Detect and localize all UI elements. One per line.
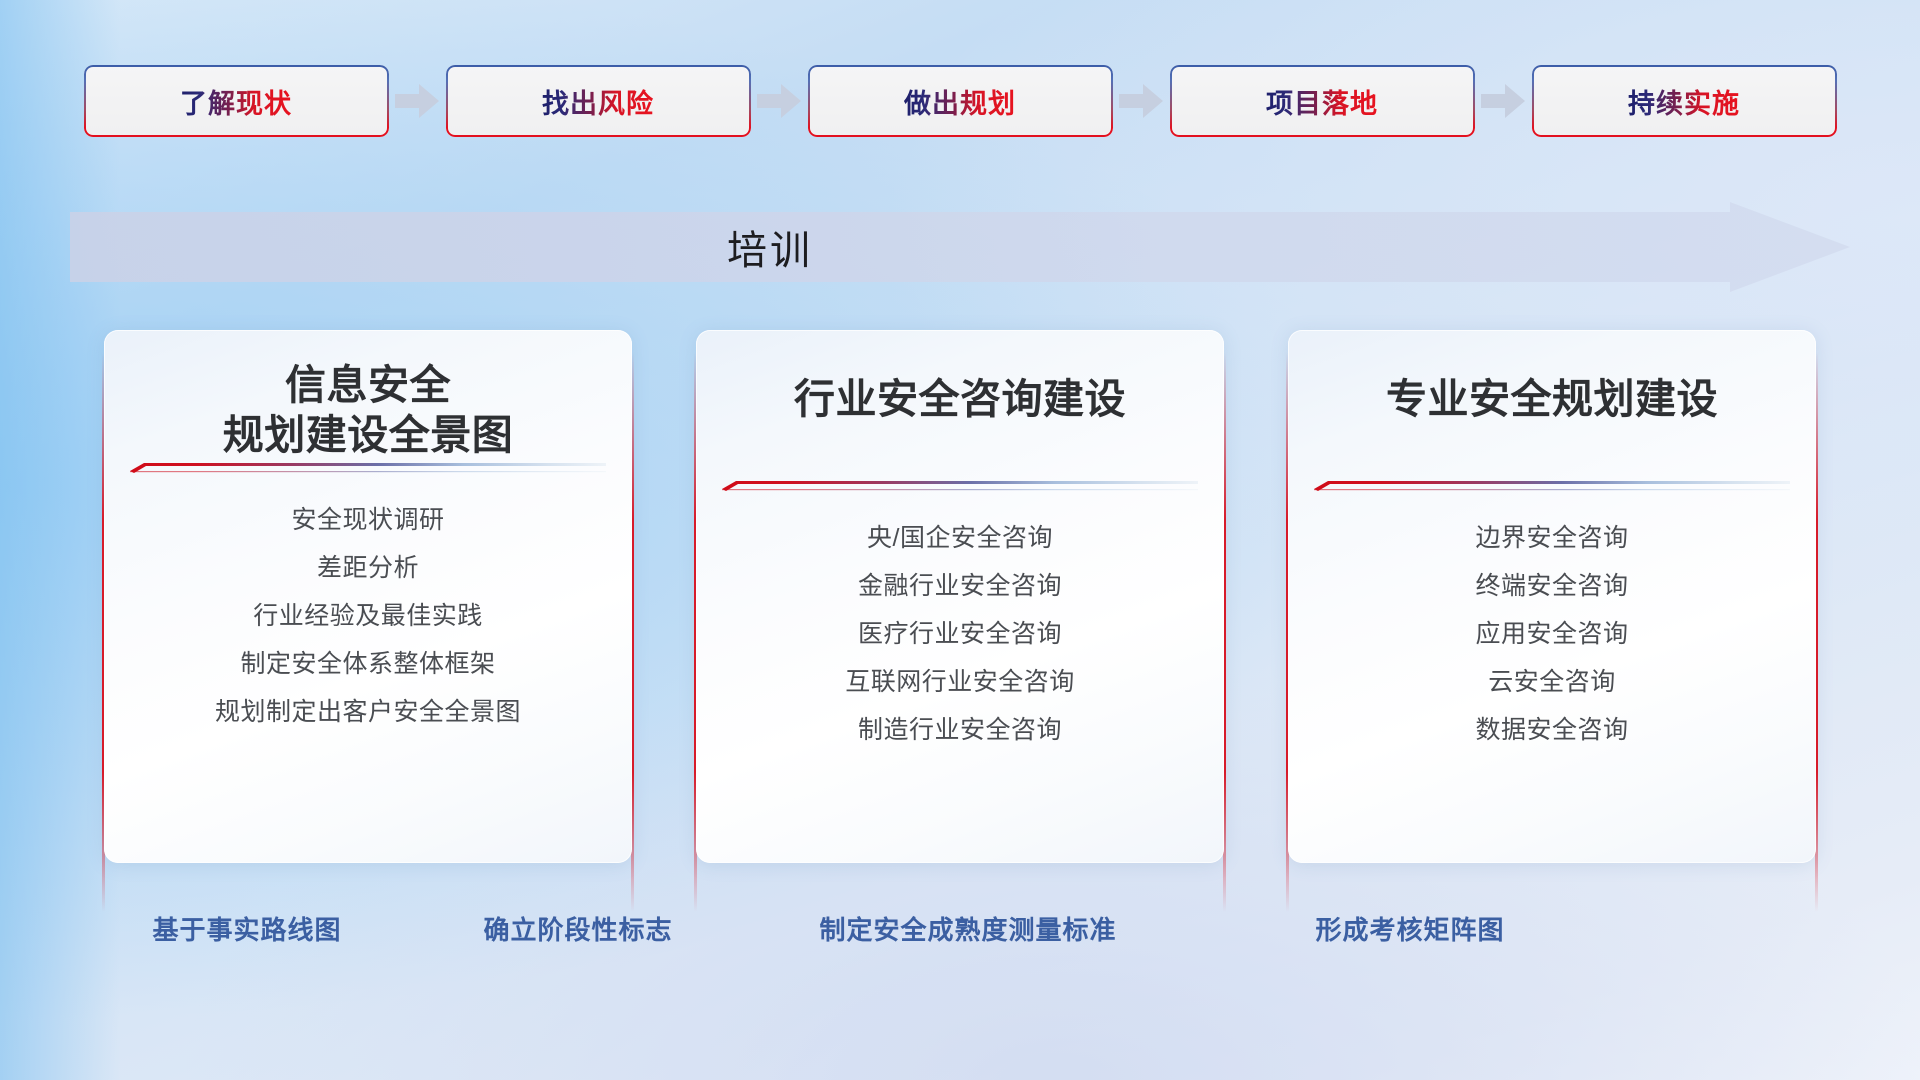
card-title-line: 行业安全咨询建设 [730,374,1190,424]
card-column-1: 信息安全 规划建设全景图 [104,330,632,890]
step-arrow-3 [1113,84,1170,118]
card-item: 规划制定出客户安全全景图 [215,700,521,725]
card-2[interactable]: 行业安全咨询建设 [696,330,1224,863]
arrow-right-icon [1119,84,1163,118]
card-item: 行业经验及最佳实践 [253,604,483,629]
footer-label-2: 确立阶段性标志 [483,910,672,947]
gradient-divider-icon [722,478,1198,492]
card-item: 金融行业安全咨询 [858,574,1062,599]
process-step-row: 了解现状 找出风险 做出规划 项目落地 [0,62,1920,140]
card-divider-2 [722,478,1198,492]
step-item-5: 持续实施 [1532,65,1837,137]
card-item-list-3: 边界安全咨询 终端安全咨询 应用安全咨询 云安全咨询 数据安全咨询 [1322,526,1782,766]
card-column-3: 专业安全规划建设 [1288,330,1816,890]
footer-label-1: 基于事实路线图 [152,910,341,947]
gradient-divider-icon [1314,478,1790,492]
card-title-line: 信息安全 [138,360,598,410]
card-divider-3 [1314,478,1790,492]
banner-label: 培训 [70,202,1470,292]
step-box-4[interactable]: 项目落地 [1170,65,1475,137]
step-arrow-1 [389,84,446,118]
step-label-2: 找出风险 [542,82,654,121]
card-divider-1 [130,460,606,474]
step-label-5: 持续实施 [1628,82,1740,121]
arrow-right-icon [1481,84,1525,118]
card-item: 安全现状调研 [291,508,444,533]
service-card-row: 信息安全 规划建设全景图 [0,330,1920,890]
card-item-list-2: 央/国企安全咨询 金融行业安全咨询 医疗行业安全咨询 互联网行业安全咨询 制造行… [730,526,1190,766]
gradient-divider-icon [130,460,606,474]
card-item: 制定安全体系整体框架 [240,652,495,677]
card-item: 应用安全咨询 [1475,622,1628,647]
arrow-right-icon [395,84,439,118]
card-item: 差距分析 [317,556,419,581]
step-item-4: 项目落地 [1170,65,1475,137]
card-item-list-1: 安全现状调研 差距分析 行业经验及最佳实践 制定安全体系整体框架 规划制定出客户… [138,508,598,748]
step-box-2[interactable]: 找出风险 [446,65,751,137]
card-column-2: 行业安全咨询建设 [696,330,1224,890]
card-title-2: 行业安全咨询建设 [730,374,1190,424]
step-box-3[interactable]: 做出规划 [808,65,1113,137]
step-item-2: 找出风险 [446,65,751,137]
card-title-1: 信息安全 规划建设全景图 [138,360,598,460]
step-label-1: 了解现状 [180,82,292,121]
card-item: 数据安全咨询 [1475,718,1628,743]
training-banner: 培训 [70,202,1850,292]
card-1[interactable]: 信息安全 规划建设全景图 [104,330,632,863]
step-item-1: 了解现状 [84,65,389,137]
card-3[interactable]: 专业安全规划建设 [1288,330,1816,863]
card-title-3: 专业安全规划建设 [1322,374,1782,424]
card-title-line: 规划建设全景图 [138,410,598,460]
card-item: 央/国企安全咨询 [867,526,1053,551]
step-arrow-4 [1475,84,1532,118]
step-label-4: 项目落地 [1266,82,1378,121]
step-label-3: 做出规划 [904,82,1016,121]
step-box-5[interactable]: 持续实施 [1532,65,1837,137]
card-item: 终端安全咨询 [1475,574,1628,599]
step-box-1[interactable]: 了解现状 [84,65,389,137]
footer-label-3: 制定安全成熟度测量标准 [819,910,1116,947]
card-item: 医疗行业安全咨询 [858,622,1062,647]
arrow-right-icon [757,84,801,118]
card-title-line: 专业安全规划建设 [1322,374,1782,424]
card-item: 云安全咨询 [1488,670,1616,695]
card-item: 边界安全咨询 [1475,526,1628,551]
step-item-3: 做出规划 [808,65,1113,137]
card-item: 制造行业安全咨询 [858,718,1062,743]
footer-label-row: 基于事实路线图 确立阶段性标志 制定安全成熟度测量标准 形成考核矩阵图 [0,910,1920,970]
step-arrow-2 [751,84,808,118]
card-item: 互联网行业安全咨询 [845,670,1075,695]
footer-label-4: 形成考核矩阵图 [1315,910,1504,947]
